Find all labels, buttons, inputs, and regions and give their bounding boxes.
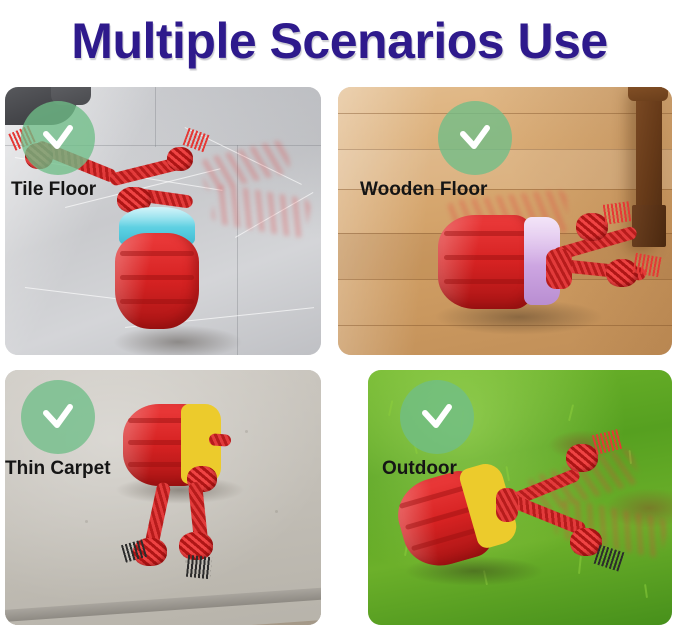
scenario-panel-wooden-floor[interactable]: Wooden Floor (338, 87, 672, 355)
chair-seat-edge (628, 87, 668, 101)
scenario-label-thin-carpet: Thin Carpet (5, 458, 111, 480)
check-badge-carpet (21, 380, 95, 454)
scenario-label-outdoor: Outdoor (382, 458, 457, 480)
page-header: Multiple Scenarios Use (0, 0, 679, 82)
scenario-label-tile-floor: Tile Floor (11, 179, 96, 201)
scenario-label-wooden-floor: Wooden Floor (360, 179, 487, 201)
check-icon (37, 396, 79, 438)
scenario-grid: Tile Floor (0, 82, 679, 630)
check-icon (37, 117, 79, 159)
check-icon (454, 117, 496, 159)
check-icon (416, 396, 458, 438)
check-badge-tile (21, 101, 95, 175)
check-badge-wooden (438, 101, 512, 175)
check-badge-outdoor (400, 380, 474, 454)
page-title: Multiple Scenarios Use (71, 12, 607, 70)
chair-foot (632, 205, 666, 247)
scenario-panel-outdoor[interactable]: Outdoor (368, 370, 672, 625)
scenario-panel-thin-carpet[interactable]: Thin Carpet (5, 370, 321, 625)
scenario-panel-tile-floor[interactable]: Tile Floor (5, 87, 321, 355)
